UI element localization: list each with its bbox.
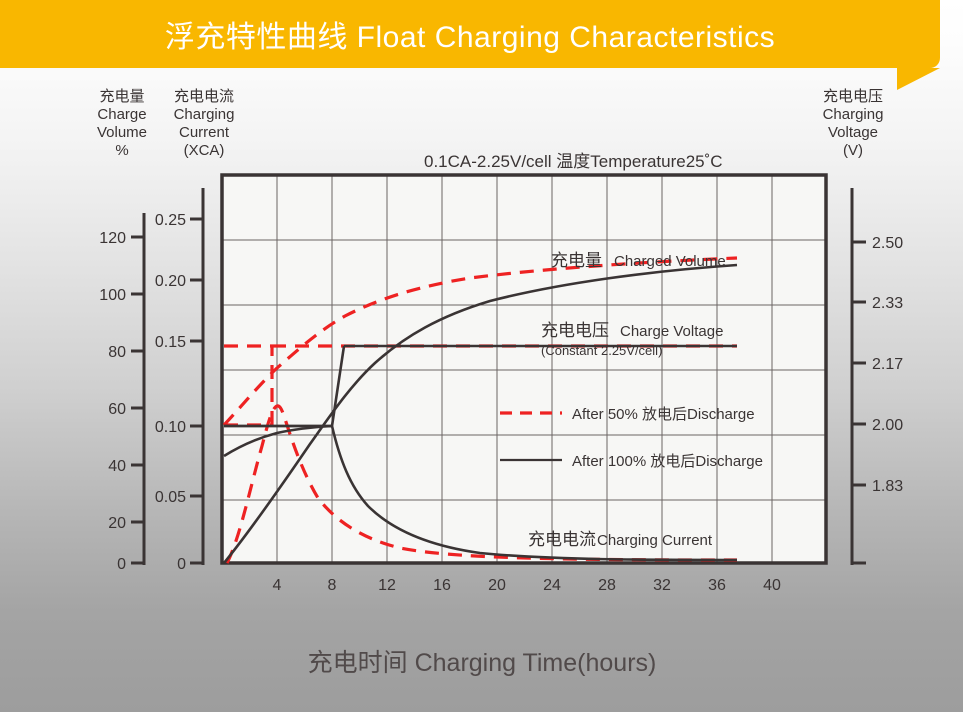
tick-label: 60: [108, 401, 126, 418]
axis-title-line-2: Charging: [174, 106, 235, 123]
tick-label: 0.20: [155, 273, 186, 290]
annotation-cn: 充电电压: [541, 321, 609, 340]
axis-title-line-3: Volume: [97, 124, 147, 141]
annotation-cn: 充电电流: [528, 530, 596, 549]
legend-label: After 100% 放电后Discharge: [572, 453, 763, 470]
axis-title-line-2: Charge: [97, 106, 146, 123]
axis-title-line-2: Charging: [823, 106, 884, 123]
tick-label: 32: [653, 577, 671, 594]
tick-label: 2.00: [872, 417, 903, 434]
x-axis-title: 充电时间 Charging Time(hours): [308, 649, 657, 677]
tick-label: 24: [543, 577, 561, 594]
annotation-charged-volume: 充电量 Charged Volume: [551, 251, 726, 270]
tick-label: 0.25: [155, 212, 186, 229]
tick-label: 40: [763, 577, 781, 594]
x-axis-tick-labels: 4 8 12 16 20 24 28 32 36 40: [273, 577, 781, 594]
axis-title-line-1: 充电电压: [823, 88, 883, 105]
axis-title-line-3: Current: [179, 124, 230, 141]
tick-label: 120: [99, 230, 126, 247]
tick-label: 0: [117, 556, 126, 573]
tick-label: 28: [598, 577, 616, 594]
axis-title-line-4: (XCA): [184, 142, 225, 159]
axis-charge-volume: 充电量 Charge Volume % 120 100 80 60 40 20 …: [97, 88, 147, 573]
tick-label: 1.83: [872, 478, 903, 495]
axis-title-line-4: %: [115, 142, 128, 159]
tick-label: 36: [708, 577, 726, 594]
axis-title-line-4: (V): [843, 142, 863, 159]
chart-container: 0.1CA-2.25V/cell 温度Temperature25˚C 充电量 C…: [0, 68, 963, 712]
annotation-cn: 充电量: [551, 251, 602, 270]
plot-background: [222, 175, 826, 563]
annotation-en: Charge Voltage: [620, 323, 723, 340]
annotation-en: Charged Volume: [614, 253, 726, 270]
tick-label: 2.17: [872, 356, 903, 373]
tick-label: 0.10: [155, 419, 186, 436]
tick-label: 2.50: [872, 235, 903, 252]
title-banner: 浮充特性曲线 Float Charging Characteristics: [0, 0, 940, 68]
tick-label: 4: [273, 577, 282, 594]
header-note: 0.1CA-2.25V/cell 温度Temperature25˚C: [424, 152, 723, 171]
tick-label: 20: [108, 515, 126, 532]
tick-label: 0.05: [155, 489, 186, 506]
tick-label: 2.33: [872, 295, 903, 312]
tick-label: 16: [433, 577, 451, 594]
float-charging-chart: 0.1CA-2.25V/cell 温度Temperature25˚C 充电量 C…: [0, 68, 963, 712]
axis-title-line-1: 充电电流: [174, 88, 234, 105]
annotation-sub: (Constant 2.25V/cell): [541, 343, 662, 358]
tick-label: 0: [177, 556, 186, 573]
tick-label: 100: [99, 287, 126, 304]
annotation-en: Charging Current: [597, 532, 713, 549]
page-title: 浮充特性曲线 Float Charging Characteristics: [0, 0, 940, 68]
tick-label: 8: [328, 577, 337, 594]
legend-label: After 50% 放电后Discharge: [572, 406, 755, 423]
tick-label: 80: [108, 344, 126, 361]
axis-charging-voltage: 充电电压 Charging Voltage (V) 2.50 2.33 2.17…: [823, 88, 904, 565]
tick-label: 40: [108, 458, 126, 475]
tick-label: 12: [378, 577, 396, 594]
tick-label: 20: [488, 577, 506, 594]
axis-title-line-3: Voltage: [828, 124, 878, 141]
axis-title-line-1: 充电量: [99, 88, 144, 105]
tick-label: 0.15: [155, 334, 186, 351]
annotation-charging-current: 充电电流 Charging Current: [528, 530, 713, 549]
